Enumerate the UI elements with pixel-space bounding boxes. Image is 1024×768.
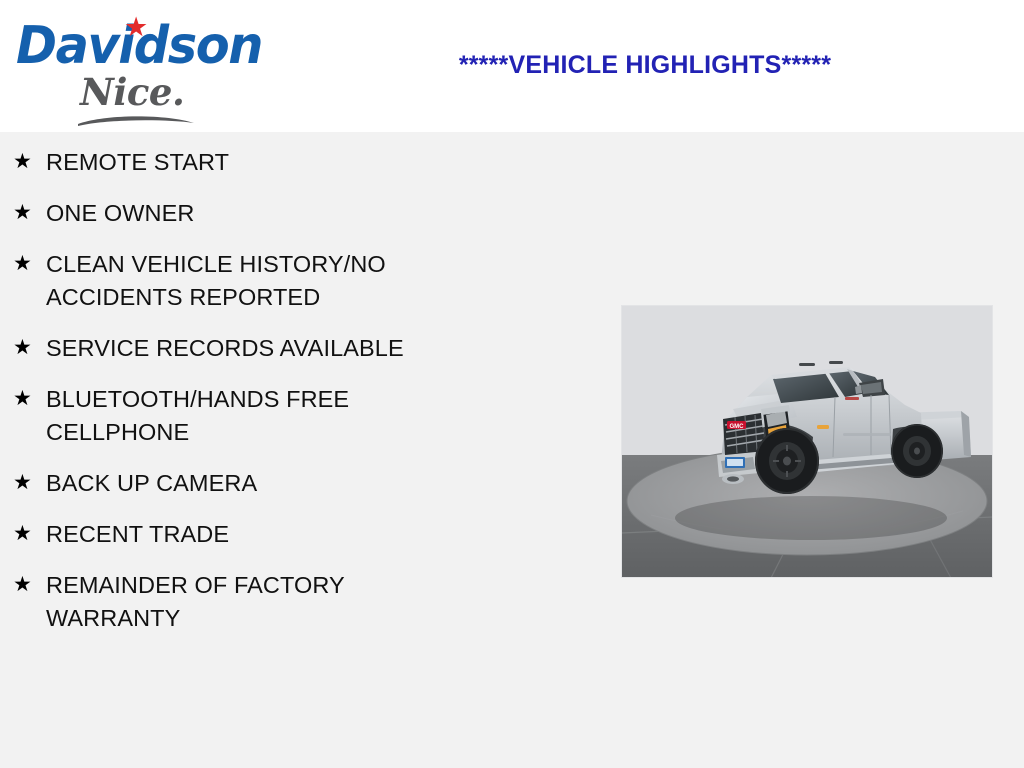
star-bullet-icon: ★ [13,569,46,601]
star-bullet-icon: ★ [13,518,46,550]
list-item-label: BLUETOOTH/HANDS FREE CELLPHONE [46,383,476,449]
list-item: ★ REMOTE START [0,146,600,179]
list-item-label: RECENT TRADE [46,518,476,551]
list-item: ★ BLUETOOTH/HANDS FREE CELLPHONE [0,383,600,449]
vehicle-highlights-page: Davidson ★ Nice. *****VEHICLE HIGHLIGHTS… [0,0,1024,768]
list-item: ★ REMAINDER OF FACTORY WARRANTY [0,569,600,635]
vehicle-highlights-list: ★ REMOTE START ★ ONE OWNER ★ CLEAN VEHIC… [0,132,600,653]
page-header: Davidson ★ Nice. *****VEHICLE HIGHLIGHTS… [0,0,1024,132]
star-bullet-icon: ★ [13,383,46,415]
star-bullet-icon: ★ [13,248,46,280]
dealer-logo[interactable]: Davidson ★ Nice. [14,8,274,126]
vehicle-photo[interactable]: GMC [621,305,993,578]
star-icon: ★ [124,14,148,41]
star-bullet-icon: ★ [13,146,46,178]
page-content: ★ REMOTE START ★ ONE OWNER ★ CLEAN VEHIC… [0,132,1024,768]
star-bullet-icon: ★ [13,197,46,229]
page-title: *****VEHICLE HIGHLIGHTS***** [300,50,990,80]
list-item: ★ CLEAN VEHICLE HISTORY/NO ACCIDENTS REP… [0,248,600,314]
list-item-label: REMOTE START [46,146,476,179]
list-item-label: CLEAN VEHICLE HISTORY/NO ACCIDENTS REPOR… [46,248,476,314]
list-item-label: REMAINDER OF FACTORY WARRANTY [46,569,476,635]
list-item: ★ ONE OWNER [0,197,600,230]
list-item: ★ RECENT TRADE [0,518,600,551]
swoosh-underline-icon [76,112,196,128]
list-item: ★ BACK UP CAMERA [0,467,600,500]
dealer-logo-sublabel: Nice. [80,74,184,111]
list-item-label: ONE OWNER [46,197,476,230]
list-item-label: BACK UP CAMERA [46,467,476,500]
star-bullet-icon: ★ [13,467,46,499]
list-item: ★ SERVICE RECORDS AVAILABLE [0,332,600,365]
list-item-label: SERVICE RECORDS AVAILABLE [46,332,476,365]
svg-text:GMC: GMC [730,424,745,430]
star-bullet-icon: ★ [13,332,46,364]
